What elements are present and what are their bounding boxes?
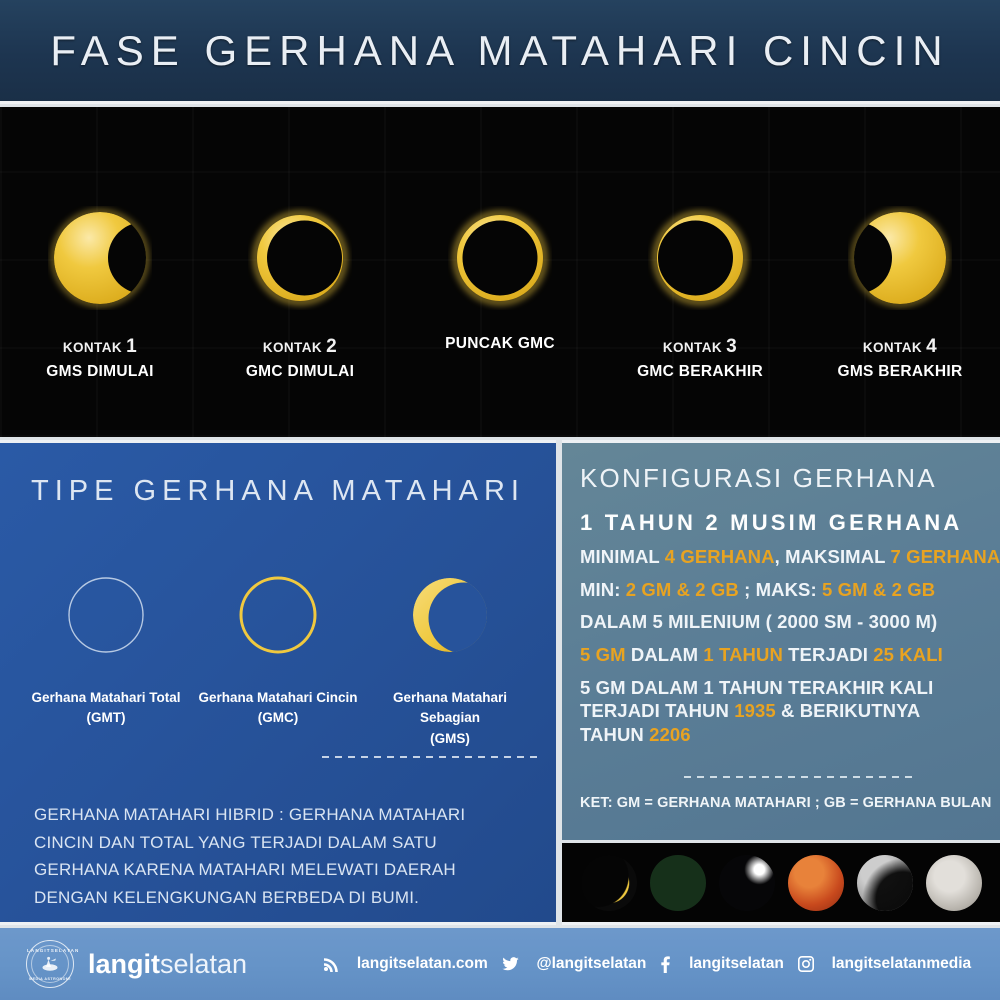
eclipse-type-gms-icon — [370, 560, 530, 670]
social-link-instagram-label: langitselatanmedia — [832, 955, 972, 973]
phase-kontak-4-contact-line: KONTAK 4 — [805, 333, 995, 361]
eclipse-type-gmc-label: Gerhana Matahari Cincin(GMC) — [198, 688, 358, 729]
social-links-row: langitselatan.com@langitselatanlangitsel… — [316, 955, 1000, 973]
phase-puncak-gmc-label: PUNCAK GMC — [405, 333, 595, 355]
twitter-icon — [502, 957, 519, 972]
phase-art-partial-sun-left-bite — [48, 206, 152, 310]
eclipse-configuration-panel: KONFIGURASI GERHANA 1 TAHUN 2 MUSIM GERH… — [562, 440, 1000, 840]
eclipse-type-gmc: Gerhana Matahari Cincin(GMC) — [198, 560, 358, 729]
line-5gm-25-kali-part-4-highlight: 25 KALI — [873, 644, 943, 665]
social-link-website-label: langitselatan.com — [357, 955, 488, 973]
footer-bar: LANGITSELATAN MEDIA ASTRONOMI langitsela… — [0, 928, 1000, 1000]
eclipse-type-gmt-label: Gerhana Matahari Total(GMT) — [26, 688, 186, 729]
type-art-annular-ring — [232, 569, 324, 661]
page-title: FASE GERHANA MATAHARI CINCIN — [50, 27, 949, 75]
phase-art-annular-ring-thick-left — [248, 206, 352, 310]
social-link-instagram[interactable]: langitselatanmedia — [798, 955, 972, 973]
partial-lunar-shadow — [857, 855, 913, 911]
eclipse-type-gmt-label-line1: Gerhana Matahari Total — [26, 688, 186, 708]
phase-art-partial-sun-right-bite — [848, 206, 952, 310]
facebook-icon — [660, 956, 680, 973]
phase-kontak-3-name: GMC BERAKHIR — [605, 361, 795, 383]
line-min-maks-gm-gb: MIN: 2 GM & 2 GB ; MAKS: 5 GM & 2 GB — [580, 578, 1000, 602]
thumb-crescent-solar — [581, 855, 637, 911]
phase-kontak-1-contact-word: KONTAK — [63, 340, 122, 355]
phase-art-annular-ring-even — [448, 206, 552, 310]
phase-kontak-1-icon — [5, 199, 195, 317]
phase-kontak-1-contact-line: KONTAK 1 — [5, 333, 195, 361]
twitter-icon — [502, 957, 528, 972]
dashed-divider-right — [684, 776, 916, 778]
brand-name-light: selatan — [160, 949, 247, 979]
eclipse-type-gms-label-line2: (GMS) — [370, 729, 530, 749]
phase-kontak-3-contact-line: KONTAK 3 — [605, 333, 795, 361]
line-min-maks-gm-gb-part-0: MIN: — [580, 579, 626, 600]
brand-block: LANGITSELATAN MEDIA ASTRONOMI langitsela… — [26, 940, 316, 988]
phase-kontak-4-contact-word: KONTAK — [863, 340, 922, 355]
thumb-full-moon — [926, 855, 982, 911]
brand-wordmark: langitselatan — [88, 949, 247, 980]
phase-kontak-4: KONTAK 4GMS BERAKHIR — [805, 199, 995, 383]
social-link-website[interactable]: langitselatan.com — [323, 955, 488, 973]
eclipse-photo-strip — [562, 843, 1000, 925]
dashed-divider-left — [322, 756, 540, 758]
eclipse-type-gmt-icon — [26, 560, 186, 670]
eclipse-type-gmc-label-line1: Gerhana Matahari Cincin — [198, 688, 358, 708]
phase-row: KONTAK 1GMS DIMULAIKONTAK 2GMC DIMULAIPU… — [0, 107, 1000, 437]
phase-kontak-4-icon — [805, 199, 995, 317]
eclipse-type-gms: Gerhana Matahari Sebagian(GMS) — [370, 560, 530, 749]
phase-kontak-4-name: GMS BERAKHIR — [805, 361, 995, 383]
eclipse-types-row: Gerhana Matahari Total(GMT)Gerhana Matah… — [0, 560, 556, 749]
line-5gm-25-kali-part-1: DALAM — [626, 644, 704, 665]
phase-kontak-1-label: KONTAK 1GMS DIMULAI — [5, 333, 195, 383]
thumb-total-solar-diamond-ring — [719, 855, 775, 911]
type-art-crescent — [404, 569, 496, 661]
eclipse-types-panel: TIPE GERHANA MATAHARI Gerhana Matahari T… — [0, 440, 556, 925]
seal-top-text: LANGITSELATAN — [27, 948, 73, 953]
social-link-twitter[interactable]: @langitselatan — [502, 955, 647, 973]
phase-kontak-2: KONTAK 2GMC DIMULAI — [205, 199, 395, 383]
phase-kontak-3-label: KONTAK 3GMC BERAKHIR — [605, 333, 795, 383]
line-milenium-part-0: DALAM 5 MILENIUM ( 2000 SM - 3000 M) — [580, 611, 937, 632]
instagram-icon — [798, 956, 814, 972]
eclipse-type-gms-label-line1: Gerhana Matahari Sebagian — [370, 688, 530, 729]
configuration-facts: MINIMAL 4 GERHANA, MAKSIMAL 7 GERHANAMIN… — [562, 545, 1000, 747]
phase-kontak-3-contact-word: KONTAK — [663, 340, 722, 355]
line-minimal-maksimal-part-3-highlight: 7 GERHANA — [890, 546, 1000, 567]
line-minimal-maksimal: MINIMAL 4 GERHANA, MAKSIMAL 7 GERHANA — [580, 545, 1000, 569]
phase-kontak-2-icon — [205, 199, 395, 317]
line-terakhir-berikutnya-part-1-highlight: 1935 — [734, 700, 776, 721]
line-terakhir-berikutnya: 5 GM DALAM 1 TAHUN TERAKHIR KALI TERJADI… — [580, 676, 988, 747]
phase-kontak-3-icon — [605, 199, 795, 317]
hybrid-eclipse-description: GERHANA MATAHARI HIBRID : GERHANA MATAHA… — [34, 801, 526, 911]
eclipse-type-gmt-label-line2: (GMT) — [26, 708, 186, 728]
eclipse-phases-panel: KONTAK 1GMS DIMULAIKONTAK 2GMC DIMULAIPU… — [0, 107, 1000, 437]
phase-kontak-2-contact-number: 2 — [326, 336, 337, 357]
line-terakhir-berikutnya-part-3-highlight: 2206 — [649, 724, 691, 745]
configuration-subtitle: 1 TAHUN 2 MUSIM GERHANA — [580, 510, 1000, 536]
facebook-icon — [660, 956, 671, 973]
type-art-total-dark-disc — [60, 569, 152, 661]
phase-puncak-gmc-name: PUNCAK GMC — [405, 333, 595, 355]
phase-kontak-1-contact-number: 1 — [126, 336, 137, 357]
phase-kontak-3-contact-number: 3 — [726, 336, 737, 357]
phase-kontak-2-contact-word: KONTAK — [263, 340, 322, 355]
phase-kontak-4-contact-number: 4 — [926, 336, 937, 357]
seal-bottom-text: MEDIA ASTRONOMI — [27, 977, 73, 981]
phase-kontak-1: KONTAK 1GMS DIMULAI — [5, 199, 195, 383]
thumb-annular-solar — [650, 855, 706, 911]
phase-art-annular-ring-thick-right — [648, 206, 752, 310]
phase-puncak-gmc: PUNCAK GMC — [405, 199, 595, 355]
line-minimal-maksimal-part-1-highlight: 4 GERHANA — [665, 546, 775, 567]
eclipse-types-title: TIPE GERHANA MATAHARI — [0, 475, 556, 508]
line-5gm-25-kali-part-0-highlight: 5 GM — [580, 644, 626, 665]
line-minimal-maksimal-part-2: , MAKSIMAL — [775, 546, 891, 567]
instagram-icon — [798, 956, 823, 972]
line-min-maks-gm-gb-part-2: ; MAKS: — [739, 579, 822, 600]
eclipse-type-gms-label: Gerhana Matahari Sebagian(GMS) — [370, 688, 530, 749]
phase-kontak-2-contact-line: KONTAK 2 — [205, 333, 395, 361]
phase-kontak-2-name: GMC DIMULAI — [205, 361, 395, 383]
line-min-maks-gm-gb-part-3-highlight: 5 GM & 2 GB — [822, 579, 935, 600]
line-5gm-25-kali-part-3: TERJADI — [783, 644, 873, 665]
langitselatan-seal-logo: LANGITSELATAN MEDIA ASTRONOMI — [26, 940, 74, 988]
configuration-title: KONFIGURASI GERHANA — [580, 463, 1000, 494]
line-milenium: DALAM 5 MILENIUM ( 2000 SM - 3000 M) — [580, 610, 1000, 634]
social-link-twitter-label: @langitselatan — [537, 955, 647, 973]
phase-kontak-4-label: KONTAK 4GMS BERAKHIR — [805, 333, 995, 383]
brand-name-bold: langit — [88, 949, 160, 979]
line-5gm-25-kali-part-2-highlight: 1 TAHUN — [703, 644, 783, 665]
rss-icon — [323, 956, 339, 972]
line-min-maks-gm-gb-part-1-highlight: 2 GM & 2 GB — [626, 579, 739, 600]
rss-icon — [323, 956, 348, 972]
thumb-total-lunar-blood-moon — [788, 855, 844, 911]
phase-kontak-2-label: KONTAK 2GMC DIMULAI — [205, 333, 395, 383]
eclipse-type-gmt: Gerhana Matahari Total(GMT) — [26, 560, 186, 729]
social-link-facebook[interactable]: langitselatan — [660, 955, 784, 973]
line-5gm-25-kali: 5 GM DALAM 1 TAHUN TERJADI 25 KALI — [580, 643, 1000, 667]
phase-puncak-gmc-icon — [405, 199, 595, 317]
thumb-partial-lunar — [857, 855, 913, 911]
eclipse-type-gmc-icon — [198, 560, 358, 670]
line-minimal-maksimal-part-0: MINIMAL — [580, 546, 665, 567]
legend-abbreviations: KET: GM = GERHANA MATAHARI ; GB = GERHAN… — [580, 795, 992, 811]
social-link-facebook-label: langitselatan — [689, 955, 784, 973]
phase-kontak-1-name: GMS DIMULAI — [5, 361, 195, 383]
phase-kontak-3: KONTAK 3GMC BERAKHIR — [605, 199, 795, 383]
eclipse-type-gmc-label-line2: (GMC) — [198, 708, 358, 728]
header-banner: FASE GERHANA MATAHARI CINCIN — [0, 0, 1000, 104]
